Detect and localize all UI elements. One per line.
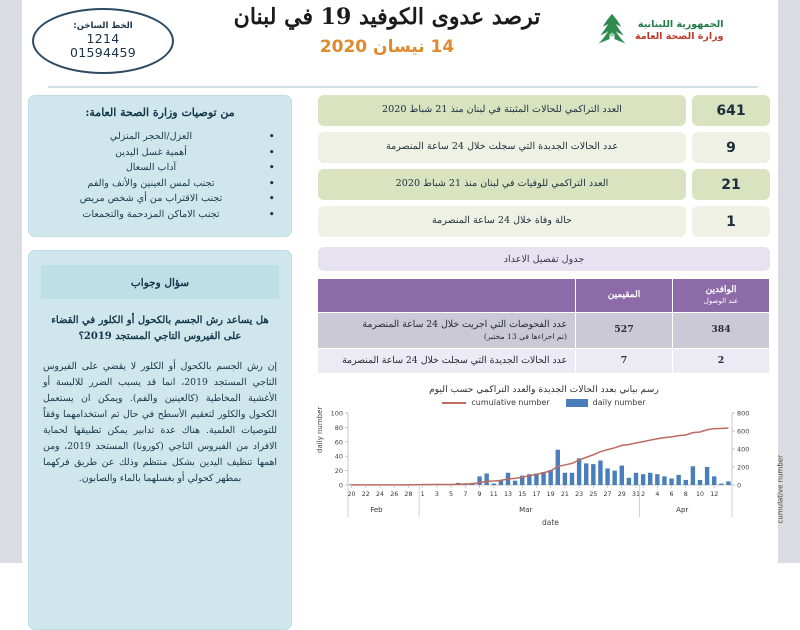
svg-text:13: 13 — [504, 491, 512, 498]
qa-heading: سؤال وجواب — [41, 265, 279, 299]
legend-item-daily: daily number — [566, 398, 646, 407]
list-item: تجنب الاقتراب من أي شخص مريض — [41, 191, 261, 207]
svg-text:0: 0 — [339, 482, 343, 490]
svg-text:22: 22 — [362, 491, 370, 498]
hotline-number-2: 01594459 — [70, 46, 136, 60]
cell-residents: 7 — [576, 348, 673, 374]
svg-text:21: 21 — [561, 491, 569, 498]
svg-text:400: 400 — [737, 446, 749, 454]
svg-text:25: 25 — [589, 491, 597, 498]
hotline-number-1: 1214 — [87, 32, 120, 46]
right-column: 641 العدد التراكمي للحالات المثبتة في لب… — [318, 95, 770, 534]
recommendations-title: من توصيات وزارة الصحة العامة: — [41, 106, 279, 119]
svg-text:12: 12 — [710, 491, 718, 498]
cedar-tree-icon — [594, 12, 630, 50]
logo-line-ministry: وزارة الصحة العامة — [635, 31, 724, 43]
svg-text:15: 15 — [518, 491, 526, 498]
page-title: ترصد عدوى الكوفيد 19 في لبنان — [172, 4, 602, 30]
svg-text:26: 26 — [390, 491, 398, 498]
page-sheet: الخط الساخن: 1214 01594459 ترصد عدوى الك… — [22, 0, 778, 563]
svg-text:4: 4 — [655, 491, 659, 498]
svg-text:27: 27 — [604, 491, 612, 498]
svg-text:800: 800 — [737, 410, 749, 418]
svg-text:2: 2 — [641, 491, 645, 498]
stat-label: العدد التراكمي للحالات المثبتة في لبنان … — [318, 95, 686, 126]
cell-description: عدد الحالات الجديدة التي سجلت خلال 24 سا… — [318, 348, 576, 374]
stat-value: 641 — [692, 95, 770, 126]
svg-text:0: 0 — [737, 482, 741, 490]
svg-text:10: 10 — [696, 491, 704, 498]
page-edge-left — [0, 0, 22, 563]
cell-residents: 527 — [576, 313, 673, 349]
chart-title: رسم بياني بعدد الحالات الجديدة والعدد ال… — [318, 384, 770, 395]
svg-text:Feb: Feb — [370, 506, 383, 514]
chart-plot-area: daily number cumulative number date 0204… — [318, 407, 770, 525]
svg-text:80: 80 — [335, 424, 343, 432]
detail-table-title: جدول تفصيل الاعداد — [318, 247, 770, 271]
logo-line-republic: الجمهورية اللبنانية — [635, 19, 724, 31]
svg-text:5: 5 — [449, 491, 453, 498]
legend-label-cumulative: cumulative number — [471, 398, 549, 407]
infographic-page: الخط الساخن: 1214 01594459 ترصد عدوى الك… — [0, 0, 800, 563]
chart-legend: daily number cumulative number — [318, 398, 770, 407]
chart-canvas: 02040608010002004006008002022242628Feb13… — [318, 407, 770, 525]
column-header-description — [318, 279, 576, 313]
legend-line-swatch-icon — [442, 402, 466, 404]
svg-text:20: 20 — [335, 467, 343, 475]
legend-item-cumulative: cumulative number — [442, 398, 549, 407]
svg-text:100: 100 — [331, 410, 343, 418]
row-note: (تم اجراءها في 13 مختبر) — [326, 332, 567, 342]
stat-value: 1 — [692, 206, 770, 237]
stat-value: 21 — [692, 169, 770, 200]
svg-text:11: 11 — [490, 491, 498, 498]
svg-text:600: 600 — [737, 428, 749, 436]
column-header-residents: المقيمين — [576, 279, 673, 313]
recommendations-card: من توصيات وزارة الصحة العامة: العزل/الحج… — [28, 95, 292, 237]
svg-text:200: 200 — [737, 464, 749, 472]
legend-label-daily: daily number — [593, 398, 646, 407]
svg-text:28: 28 — [404, 491, 412, 498]
svg-text:24: 24 — [376, 491, 384, 498]
list-item: العزل/الحجر المنزلي — [41, 129, 261, 145]
stat-row: 641 العدد التراكمي للحالات المثبتة في لب… — [318, 95, 770, 126]
row-description: عدد الحالات الجديدة التي سجلت خلال 24 سا… — [342, 355, 567, 366]
stat-value: 9 — [692, 132, 770, 163]
table-header-row: الوافدين عند الوصول المقيمين — [318, 279, 770, 313]
table-row: 384 527 عدد الفحوصات التي اجريت خلال 24 … — [318, 313, 770, 349]
row-description: عدد الفحوصات التي اجريت خلال 24 ساعة الم… — [362, 319, 567, 330]
legend-bar-swatch-icon — [566, 399, 588, 407]
svg-text:19: 19 — [547, 491, 555, 498]
svg-text:Mar: Mar — [519, 506, 532, 514]
cell-arrivals: 2 — [673, 348, 770, 374]
page-header: الخط الساخن: 1214 01594459 ترصد عدوى الك… — [22, 0, 778, 88]
hotline-badge: الخط الساخن: 1214 01594459 — [32, 8, 174, 74]
y-axis-right-title: cumulative number — [776, 455, 784, 523]
svg-text:29: 29 — [618, 491, 626, 498]
svg-text:23: 23 — [575, 491, 583, 498]
stat-label: حالة وفاة خلال 24 ساعة المنصرمة — [318, 206, 686, 237]
list-item: آداب السعال — [41, 160, 261, 176]
list-item: تجنب الاماكن المزدحمة والتجمعات — [41, 207, 261, 223]
svg-text:9: 9 — [478, 491, 482, 498]
svg-text:60: 60 — [335, 439, 343, 447]
svg-text:17: 17 — [532, 491, 540, 498]
report-date: 14 نيسان 2020 — [172, 37, 602, 57]
svg-text:8: 8 — [684, 491, 688, 498]
cell-arrivals: 384 — [673, 313, 770, 349]
svg-text:31: 31 — [632, 491, 640, 498]
svg-text:20: 20 — [348, 491, 356, 498]
svg-text:6: 6 — [670, 491, 674, 498]
stat-row: 21 العدد التراكمي للوفيات في لبنان منذ 2… — [318, 169, 770, 200]
header-divider — [48, 86, 758, 88]
svg-text:1: 1 — [421, 491, 425, 498]
column-header-arrivals-sub: عند الوصول — [675, 297, 767, 306]
stat-row: 9 عدد الحالات الجديدة التي سجلت خلال 24 … — [318, 132, 770, 163]
title-block: ترصد عدوى الكوفيد 19 في لبنان 14 نيسان 2… — [172, 4, 602, 57]
epidemic-curve-chart: رسم بياني بعدد الحالات الجديدة والعدد ال… — [318, 384, 770, 534]
list-item: تجنب لمس العينين والأنف والفم — [41, 176, 261, 192]
qa-answer: إن رش الجسم بالكحول أو الكلور لا يقضي عل… — [43, 359, 277, 487]
list-item: أهمية غسل اليدين — [41, 145, 261, 161]
svg-text:Apr: Apr — [676, 506, 688, 514]
detail-table: الوافدين عند الوصول المقيمين 384 527 — [317, 278, 770, 374]
svg-text:7: 7 — [463, 491, 467, 498]
column-header-arrivals: الوافدين عند الوصول — [673, 279, 770, 313]
stat-label: العدد التراكمي للوفيات في لبنان منذ 21 ش… — [318, 169, 686, 200]
stat-label: عدد الحالات الجديدة التي سجلت خلال 24 سا… — [318, 132, 686, 163]
recommendations-list: العزل/الحجر المنزلي أهمية غسل اليدين آدا… — [41, 129, 279, 222]
table-row: 2 7 عدد الحالات الجديدة التي سجلت خلال 2… — [318, 348, 770, 374]
ministry-logo: الجمهورية اللبنانية وزارة الصحة العامة — [594, 8, 770, 54]
svg-text:3: 3 — [435, 491, 439, 498]
ministry-logo-text: الجمهورية اللبنانية وزارة الصحة العامة — [635, 19, 724, 43]
cell-description: عدد الفحوصات التي اجريت خلال 24 ساعة الم… — [318, 313, 576, 349]
qa-card: سؤال وجواب هل يساعد رش الجسم بالكحول أو … — [28, 250, 292, 630]
qa-question: هل يساعد رش الجسم بالكحول أو الكلور في ا… — [43, 313, 277, 345]
svg-text:40: 40 — [335, 453, 343, 461]
stat-row: 1 حالة وفاة خلال 24 ساعة المنصرمة — [318, 206, 770, 237]
